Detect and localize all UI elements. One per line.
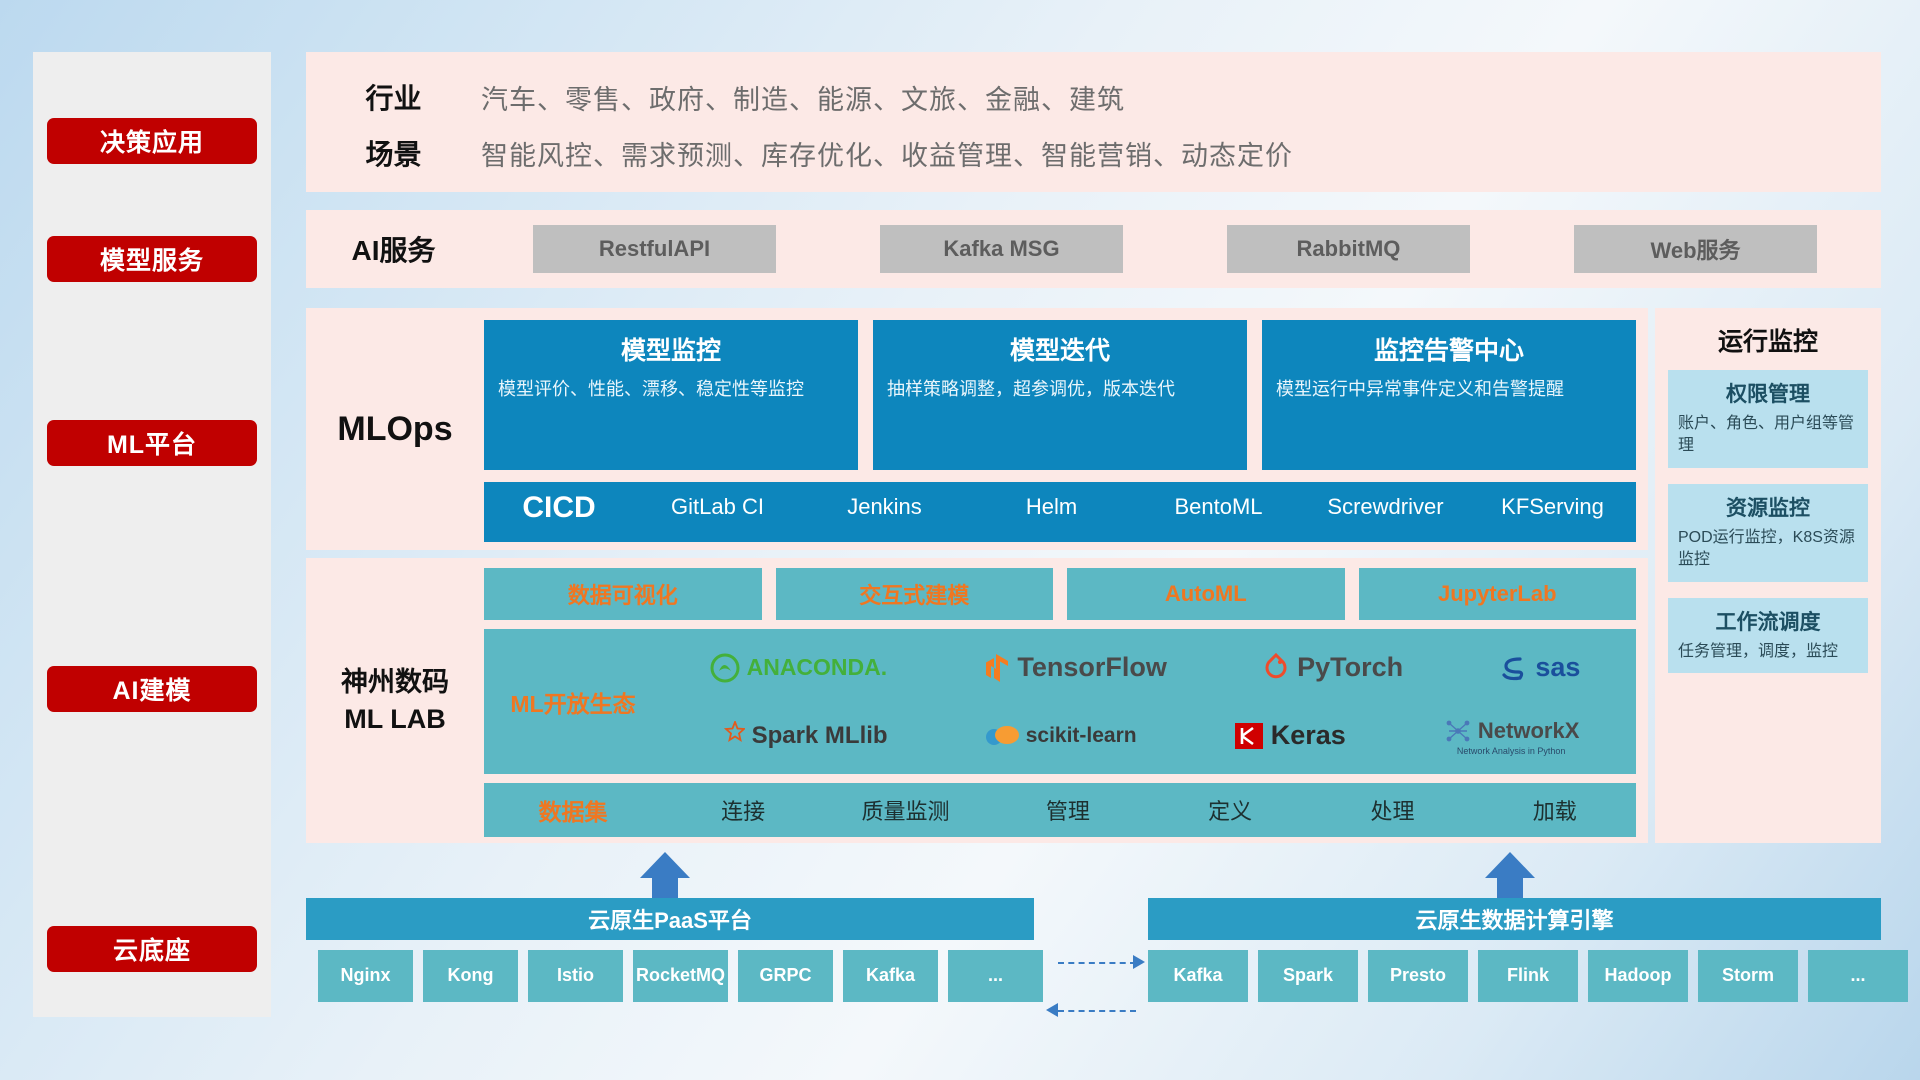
paas-chip-kong[interactable]: Kong (423, 950, 518, 1002)
dataset-item-process[interactable]: 处理 (1311, 794, 1473, 826)
anaconda-logo: ANACONDA. (710, 653, 888, 683)
pytorch-logo: PyTorch (1262, 652, 1403, 683)
cloud-engine-chip-list: Kafka Spark Presto Flink Hadoop Storm ..… (1148, 950, 1908, 1002)
ai-chip-restful-api[interactable]: RestfulAPI (533, 225, 776, 273)
scikit-learn-logo: scikit-learn (985, 721, 1137, 751)
card-desc: POD运行监控，K8S资源监控 (1678, 527, 1858, 572)
spark-mllib-logo: Spark MLlib (711, 721, 888, 751)
cicd-item-screwdriver[interactable]: Screwdriver (1302, 491, 1469, 519)
paas-chip-grpc[interactable]: GRPC (738, 950, 833, 1002)
card-desc: 账户、角色、用户组等管理 (1678, 413, 1858, 458)
cicd-item-jenkins[interactable]: Jenkins (801, 491, 968, 519)
engine-chip-flink[interactable]: Flink (1478, 950, 1578, 1002)
pytorch-icon (1262, 653, 1290, 683)
tool-chip-data-visualization[interactable]: 数据可视化 (484, 568, 762, 620)
header-key-scenario: 场景 (306, 133, 481, 173)
cicd-row: CICD GitLab CI Jenkins Helm BentoML Scre… (484, 482, 1636, 542)
sas-logo-text: sas (1535, 652, 1580, 683)
paas-chip-nginx[interactable]: Nginx (318, 950, 413, 1002)
keras-logo-text: Keras (1271, 720, 1346, 751)
header-row-scenario: 场景 智能风控、需求预测、库存优化、收益管理、智能营销、动态定价 (306, 124, 1881, 182)
ml-ecosystem-box: ML开放生态 ANACONDA. (484, 629, 1636, 774)
tool-chip-jupyterlab[interactable]: JupyterLab (1359, 568, 1637, 620)
cicd-title: CICD (484, 491, 634, 525)
cicd-item-gitlab-ci[interactable]: GitLab CI (634, 491, 801, 519)
rail-item-cloud-base[interactable]: 云底座 (47, 926, 257, 972)
ml-logo-row-2: Spark MLlib scikit-learn (662, 703, 1628, 769)
rail-label: 决策应用 (100, 123, 204, 159)
card-title: 模型监控 (498, 331, 844, 367)
card-desc: 任务管理，调度，监控 (1678, 641, 1858, 663)
ml-lab-label: 神州数码 ML LAB (306, 558, 484, 843)
mlops-band: MLOps 模型监控 模型评价、性能、漂移、稳定性等监控 模型迭代 抽样策略调整… (306, 308, 1648, 550)
rail-item-ml-platform[interactable]: ML平台 (47, 420, 257, 466)
paas-chip-rocketmq[interactable]: RocketMQ (633, 950, 728, 1002)
cicd-item-helm[interactable]: Helm (968, 491, 1135, 519)
rail-label: AI建模 (112, 671, 191, 707)
rail-label: 模型服务 (100, 241, 204, 277)
engine-chip-kafka[interactable]: Kafka (1148, 950, 1248, 1002)
ml-ecosystem-logos: ANACONDA. TensorFlow (662, 629, 1636, 774)
networkx-logo-subtitle: Network Analysis in Python (1457, 746, 1566, 756)
cloud-paas-chip-list: Nginx Kong Istio RocketMQ GRPC Kafka ... (318, 950, 1043, 1002)
tool-chip-interactive-modeling[interactable]: 交互式建模 (776, 568, 1054, 620)
dataset-item-define[interactable]: 定义 (1149, 794, 1311, 826)
diagram-canvas: 决策应用 模型服务 ML平台 AI建模 云底座 行业 汽车、零售、政府、制造、能… (0, 0, 1920, 1080)
card-title: 工作流调度 (1678, 606, 1858, 636)
mlops-card-model-iteration[interactable]: 模型迭代 抽样策略调整，超参调优，版本迭代 (873, 320, 1247, 470)
left-rail: 决策应用 模型服务 ML平台 AI建模 云底座 (33, 52, 271, 1017)
dataset-row: 数据集 连接 质量监测 管理 定义 处理 加载 (484, 783, 1636, 837)
anaconda-logo-text: ANACONDA. (747, 654, 888, 681)
spark-mllib-logo-text: Spark MLlib (752, 722, 888, 750)
ml-tool-row: 数据可视化 交互式建模 AutoML JupyterLab (484, 568, 1636, 620)
card-desc: 模型评价、性能、漂移、稳定性等监控 (498, 377, 844, 403)
mlops-card-list: 模型监控 模型评价、性能、漂移、稳定性等监控 模型迭代 抽样策略调整，超参调优，… (484, 320, 1636, 470)
paas-chip-istio[interactable]: Istio (528, 950, 623, 1002)
sas-icon (1498, 653, 1528, 683)
networkx-logo: NetworkX Network Analysis in Python (1443, 716, 1579, 756)
networkx-icon (1443, 716, 1473, 746)
monitoring-title: 运行监控 (1655, 308, 1881, 370)
networkx-logo-text: NetworkX (1478, 718, 1579, 744)
ai-services-chip-list: RestfulAPI Kafka MSG RabbitMQ Web服务 (481, 225, 1881, 273)
keras-icon (1234, 721, 1264, 751)
cloud-engine-bar[interactable]: 云原生数据计算引擎 (1148, 898, 1881, 940)
card-title: 权限管理 (1678, 378, 1858, 408)
cloud-engine-title: 云原生数据计算引擎 (1415, 903, 1613, 935)
card-desc: 模型运行中异常事件定义和告警提醒 (1276, 377, 1622, 403)
card-title: 资源监控 (1678, 492, 1858, 522)
ml-lab-content: 数据可视化 交互式建模 AutoML JupyterLab ML开放生态 ANA… (484, 568, 1636, 837)
rail-label: ML平台 (107, 425, 197, 461)
mlops-card-model-monitoring[interactable]: 模型监控 模型评价、性能、漂移、稳定性等监控 (484, 320, 858, 470)
mlops-label: MLOps (306, 308, 484, 550)
sas-logo: sas (1498, 652, 1580, 683)
anaconda-icon (710, 653, 740, 683)
spark-icon (711, 721, 745, 751)
keras-logo: Keras (1234, 720, 1346, 751)
cicd-item-bentoml[interactable]: BentoML (1135, 491, 1302, 519)
engine-chip-hadoop[interactable]: Hadoop (1588, 950, 1688, 1002)
ml-lab-label-line1: 神州数码 (341, 664, 449, 700)
header-key-industry: 行业 (306, 77, 481, 117)
card-title: 监控告警中心 (1276, 331, 1622, 367)
paas-chip-more[interactable]: ... (948, 950, 1043, 1002)
monitoring-card-permission[interactable]: 权限管理 账户、角色、用户组等管理 (1668, 370, 1868, 468)
engine-chip-spark[interactable]: Spark (1258, 950, 1358, 1002)
mlops-card-alert-center[interactable]: 监控告警中心 模型运行中异常事件定义和告警提醒 (1262, 320, 1636, 470)
engine-chip-presto[interactable]: Presto (1368, 950, 1468, 1002)
runtime-monitoring-panel: 运行监控 权限管理 账户、角色、用户组等管理 资源监控 POD运行监控，K8S资… (1655, 308, 1881, 843)
header-value-scenario: 智能风控、需求预测、库存优化、收益管理、智能营销、动态定价 (481, 134, 1293, 173)
ai-modeling-band: 神州数码 ML LAB 数据可视化 交互式建模 AutoML JupyterLa… (306, 558, 1648, 843)
dataset-item-connect[interactable]: 连接 (662, 794, 824, 826)
header-value-industry: 汽车、零售、政府、制造、能源、文旅、金融、建筑 (481, 78, 1125, 117)
ai-services-band: AI服务 RestfulAPI Kafka MSG RabbitMQ Web服务 (306, 210, 1881, 288)
pytorch-logo-text: PyTorch (1297, 652, 1403, 683)
engine-chip-storm[interactable]: Storm (1698, 950, 1798, 1002)
ai-chip-kafka-msg[interactable]: Kafka MSG (880, 225, 1123, 273)
header-row-industry: 行业 汽车、零售、政府、制造、能源、文旅、金融、建筑 (306, 68, 1881, 126)
tensorflow-icon (982, 652, 1010, 684)
scikit-learn-icon (985, 721, 1019, 751)
rail-item-model-service[interactable]: 模型服务 (47, 236, 257, 282)
header-band: 行业 汽车、零售、政府、制造、能源、文旅、金融、建筑 场景 智能风控、需求预测、… (306, 52, 1881, 192)
scikit-learn-logo-text: scikit-learn (1026, 724, 1137, 748)
dataset-item-manage[interactable]: 管理 (987, 794, 1149, 826)
dataset-title: 数据集 (484, 793, 662, 827)
tensorflow-logo: TensorFlow (982, 652, 1167, 684)
cloud-paas-title: 云原生PaaS平台 (588, 903, 752, 935)
ai-chip-rabbitmq[interactable]: RabbitMQ (1227, 225, 1470, 273)
rail-label: 云底座 (113, 931, 191, 967)
cicd-item-kfserving[interactable]: KFServing (1469, 491, 1636, 519)
ai-chip-web-service[interactable]: Web服务 (1574, 225, 1817, 273)
ml-lab-label-line2: ML LAB (344, 701, 446, 737)
engine-chip-more[interactable]: ... (1808, 950, 1908, 1002)
rail-item-decision-app[interactable]: 决策应用 (47, 118, 257, 164)
card-title: 模型迭代 (887, 331, 1233, 367)
monitoring-card-resource[interactable]: 资源监控 POD运行监控，K8S资源监控 (1668, 484, 1868, 582)
ai-services-label: AI服务 (306, 229, 481, 269)
cloud-paas-bar[interactable]: 云原生PaaS平台 (306, 898, 1034, 940)
card-desc: 抽样策略调整，超参调优，版本迭代 (887, 377, 1233, 403)
ml-ecosystem-title: ML开放生态 (484, 629, 662, 774)
tensorflow-logo-text: TensorFlow (1017, 652, 1167, 683)
ml-logo-row-1: ANACONDA. TensorFlow (662, 635, 1628, 701)
tool-chip-automl[interactable]: AutoML (1067, 568, 1345, 620)
rail-item-ai-modeling[interactable]: AI建模 (47, 666, 257, 712)
dataset-item-load[interactable]: 加载 (1474, 794, 1636, 826)
monitoring-card-workflow[interactable]: 工作流调度 任务管理，调度，监控 (1668, 598, 1868, 673)
dataset-item-quality[interactable]: 质量监测 (824, 794, 986, 826)
paas-chip-kafka[interactable]: Kafka (843, 950, 938, 1002)
